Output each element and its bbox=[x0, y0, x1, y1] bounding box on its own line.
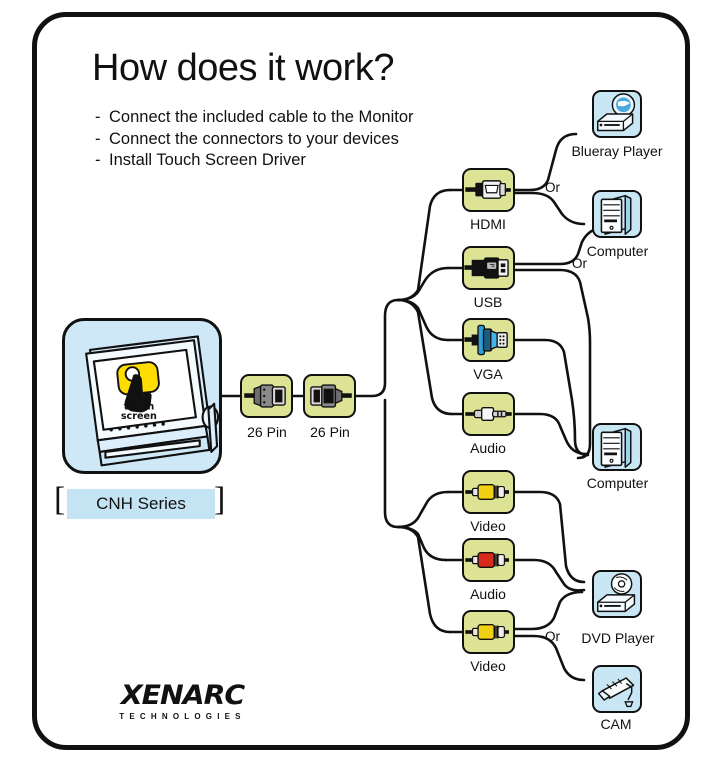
device-label: Computer bbox=[570, 475, 665, 491]
connector-tile-video-bottom bbox=[462, 610, 515, 654]
usb-connector-icon bbox=[464, 248, 513, 288]
bullet-dash: - bbox=[95, 150, 109, 172]
desktop-computer-icon bbox=[594, 192, 640, 236]
desktop-computer-icon bbox=[594, 425, 640, 469]
connector-label: Audio bbox=[448, 440, 528, 456]
connector-label: VGA bbox=[448, 366, 528, 382]
bullet-text: Connect the connectors to your devices bbox=[109, 130, 399, 148]
device-tile-cam bbox=[592, 665, 642, 713]
device-tile-computer-top bbox=[592, 190, 642, 238]
blueray-player-icon bbox=[594, 92, 640, 136]
or-label: Or bbox=[572, 256, 587, 271]
series-label: CNH Series bbox=[67, 489, 215, 519]
audio-jack-connector-icon bbox=[464, 394, 513, 434]
hdmi-connector-icon bbox=[464, 170, 513, 210]
bracket-left: [ bbox=[54, 485, 65, 515]
brand-tagline: TECHNOLOGIES bbox=[100, 712, 265, 721]
page-title: How does it work? bbox=[92, 47, 394, 90]
svg-text:screen: screen bbox=[121, 411, 157, 422]
connector-tile-audio-jack bbox=[462, 392, 515, 436]
rca-red-connector-icon bbox=[464, 540, 513, 580]
security-camera-icon bbox=[594, 667, 640, 711]
connector-tile-usb bbox=[462, 246, 515, 290]
list-item: -Connect the included cable to the Monit… bbox=[95, 107, 475, 129]
connector-label: Video bbox=[448, 518, 528, 534]
connector-tile-hdmi bbox=[462, 168, 515, 212]
bracket-right: ] bbox=[214, 485, 225, 515]
bullet-text: Install Touch Screen Driver bbox=[109, 151, 306, 169]
rca-yellow-connector-icon bbox=[464, 612, 513, 652]
connector-label: Audio bbox=[448, 586, 528, 602]
db26-female-connector-icon bbox=[305, 376, 354, 416]
monitor-illustration: touch screen bbox=[62, 318, 222, 474]
db26-male-connector-icon bbox=[242, 376, 291, 416]
or-label: Or bbox=[545, 629, 560, 644]
diagram-canvas: How does it work? -Connect the included … bbox=[0, 0, 720, 767]
device-tile-computer-bottom bbox=[592, 423, 642, 471]
connector-tile-video-top bbox=[462, 470, 515, 514]
device-label: DVD Player bbox=[562, 630, 674, 646]
connector-tile-audio-rca bbox=[462, 538, 515, 582]
connector-tile-vga bbox=[462, 318, 515, 362]
connector-tile-26pin-female bbox=[303, 374, 356, 418]
brand-logo: XENARC TECHNOLOGIES bbox=[100, 680, 265, 721]
device-tile-dvd-player bbox=[592, 570, 642, 618]
connector-tile-26pin-male bbox=[240, 374, 293, 418]
rca-yellow-connector-icon bbox=[464, 472, 513, 512]
dvd-player-icon bbox=[594, 572, 640, 616]
connector-label: 26 Pin bbox=[290, 424, 370, 440]
device-label: CAM bbox=[580, 716, 652, 732]
device-tile-blueray-player bbox=[592, 90, 642, 138]
connector-label: Video bbox=[448, 658, 528, 674]
or-label: Or bbox=[545, 180, 560, 195]
cnh-monitor-icon: touch screen bbox=[65, 321, 219, 471]
bullet-dash: - bbox=[95, 107, 109, 129]
brand-name: XENARC bbox=[96, 680, 269, 711]
list-item: -Install Touch Screen Driver bbox=[95, 150, 475, 172]
bullet-text: Connect the included cable to the Monito… bbox=[109, 108, 414, 126]
connector-label: HDMI bbox=[448, 216, 528, 232]
instruction-list: -Connect the included cable to the Monit… bbox=[95, 107, 475, 172]
device-label: Blueray Player bbox=[552, 143, 682, 159]
list-item: -Connect the connectors to your devices bbox=[95, 129, 475, 151]
vga-connector-icon bbox=[464, 320, 513, 360]
connector-label: USB bbox=[448, 294, 528, 310]
bullet-dash: - bbox=[95, 129, 109, 151]
